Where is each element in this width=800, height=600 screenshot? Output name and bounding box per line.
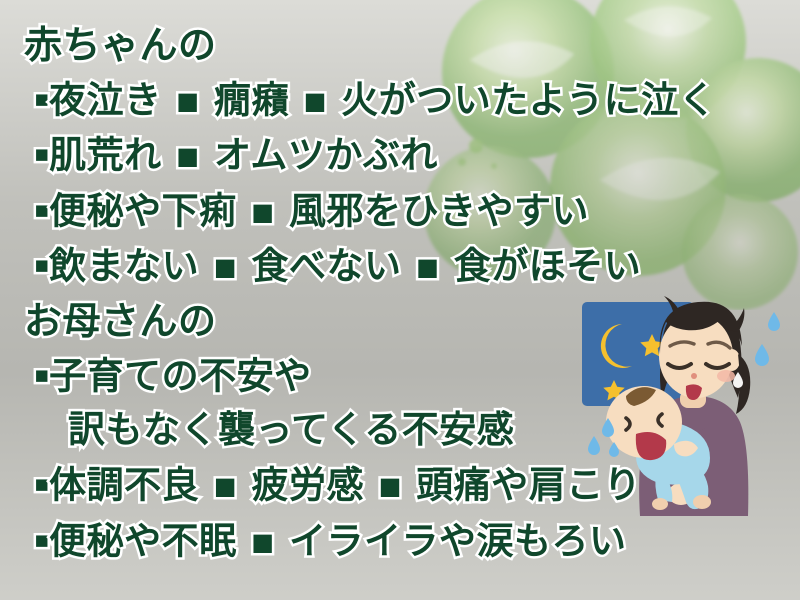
- list-item-label: 体調不良 ▪ 疲労感 ▪ 頭痛や肩こり: [49, 464, 641, 507]
- bullet-icon: ▪: [34, 513, 48, 567]
- list-item-label: 訳もなく襲ってくる不安感: [68, 408, 514, 451]
- list-item: ▪肌荒れ ▪ オムツかぶれ: [20, 127, 800, 182]
- section-heading-baby: 赤ちゃんの: [20, 18, 800, 72]
- tired-mother-holding-crying-baby-illustration: [578, 294, 796, 516]
- bullet-icon: ▪: [34, 183, 48, 237]
- list-item: ▪飲まない ▪ 食べない ▪ 食がほそい: [20, 238, 800, 293]
- bullet-icon: ▪: [34, 72, 48, 126]
- bullet-icon: ▪: [34, 238, 48, 292]
- list-item: ▪夜泣き ▪ 癇癪 ▪ 火がついたように泣く: [20, 72, 800, 127]
- list-item-label: 便秘や不眠 ▪ イライラや涙もろい: [49, 519, 626, 562]
- bullet-icon: ▪: [34, 127, 48, 181]
- list-item-label: 飲まない ▪ 食べない ▪ 食がほそい: [49, 245, 641, 288]
- list-item: ▪便秘や下痢 ▪ 風邪をひきやすい: [20, 183, 800, 238]
- list-item-label: 夜泣き ▪ 癇癪 ▪ 火がついたように泣く: [49, 78, 716, 121]
- graphic-canvas: 赤ちゃんの ▪夜泣き ▪ 癇癪 ▪ 火がついたように泣く ▪肌荒れ ▪ オムツか…: [0, 0, 800, 600]
- list-item-label: 子育ての不安や: [49, 354, 312, 397]
- bullet-icon: ▪: [34, 457, 48, 511]
- list-item-label: 便秘や下痢 ▪ 風邪をひきやすい: [49, 189, 589, 232]
- bullet-icon: ▪: [34, 348, 48, 402]
- list-item-label: 肌荒れ ▪ オムツかぶれ: [49, 134, 438, 177]
- list-item: ▪便秘や不眠 ▪ イライラや涙もろい: [20, 513, 800, 568]
